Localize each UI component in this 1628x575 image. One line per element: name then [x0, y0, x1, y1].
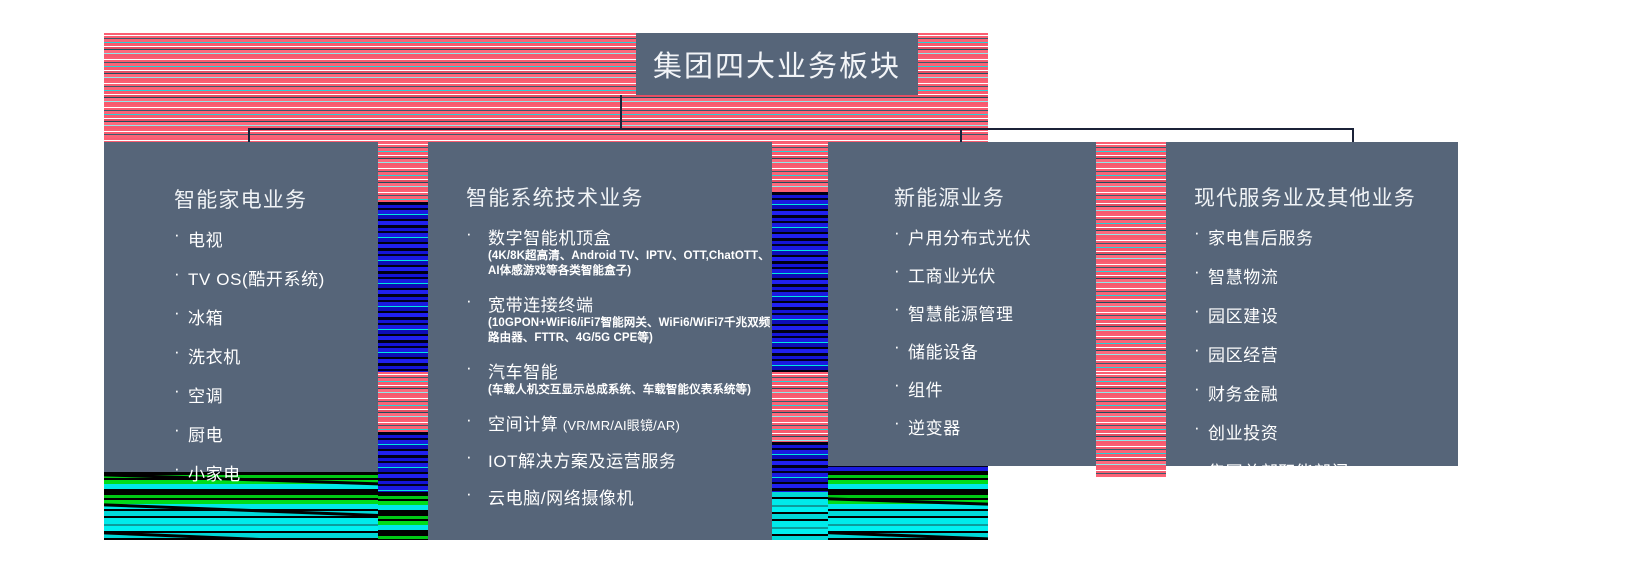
list-item[interactable]: · 电视 [174, 226, 325, 251]
panel-title: 新能源业务 [894, 182, 1005, 212]
list-item[interactable]: · 空调 [174, 382, 325, 407]
list-item[interactable]: · 储能设备 [894, 338, 1031, 363]
list-item[interactable]: · 逆变器 [894, 414, 1031, 439]
list-item-label: IOT解决方案及运营服务 [488, 447, 772, 472]
list-item[interactable]: · 组件 [894, 376, 1031, 401]
bullet-icon: · [466, 448, 472, 465]
list-item[interactable]: · 空间计算 (VR/MR/AI眼镜/AR) [466, 410, 772, 435]
list-item[interactable]: · 冰箱 [174, 304, 325, 329]
page-title: 集团四大业务板块 [653, 43, 901, 85]
list-item-label: 数字智能机顶盒 [488, 224, 772, 249]
bullet-icon: · [174, 382, 180, 399]
list-item-label: 财务金融 [1208, 380, 1349, 405]
list-item[interactable]: · 户用分布式光伏 [894, 224, 1031, 249]
list-item-label: 户用分布式光伏 [908, 224, 1031, 249]
list-item-label: 智慧物流 [1208, 263, 1349, 288]
list-item-label: 冰箱 [188, 304, 325, 329]
background-artwork-right [1096, 142, 1166, 477]
bullet-icon: · [1194, 224, 1200, 241]
list-item-label: 小家电 [188, 460, 325, 485]
list-item[interactable]: · 园区建设 [1194, 302, 1349, 327]
list-item[interactable]: · 数字智能机顶盒 (4K/8K超高清、Android TV、IPTV、OTT,… [466, 224, 772, 279]
list-item-label: 厨电 [188, 421, 325, 446]
list-item[interactable]: · 工商业光伏 [894, 262, 1031, 287]
bullet-icon: · [1194, 302, 1200, 319]
list-item[interactable]: · 智慧能源管理 [894, 300, 1031, 325]
bullet-icon: · [466, 485, 472, 502]
bullet-icon: · [174, 304, 180, 321]
connector-horizontal [248, 128, 1354, 130]
bullet-icon: · [174, 421, 180, 438]
list-item[interactable]: · 集团总部职能部门 [1194, 458, 1349, 483]
list-item[interactable]: · 汽车智能 (车载人机交互显示总成系统、车载智能仪表系统等) [466, 358, 772, 398]
list-item-label: 集团总部职能部门 [1208, 458, 1349, 483]
bullet-icon: · [894, 224, 900, 241]
list-item[interactable]: · 智慧物流 [1194, 263, 1349, 288]
list-item-label: 宽带连接终端 [488, 291, 772, 316]
list-item[interactable]: · 财务金融 [1194, 380, 1349, 405]
slide-title-chip: 集团四大业务板块 [636, 33, 918, 95]
list-item-label: 家电售后服务 [1208, 224, 1349, 249]
bullet-icon: · [466, 225, 472, 242]
bullet-icon: · [894, 376, 900, 393]
bullet-icon: · [894, 300, 900, 317]
bullet-icon: · [894, 414, 900, 431]
list-item-label: 空调 [188, 382, 325, 407]
list-item[interactable]: · 创业投资 [1194, 419, 1349, 444]
panel-item-list: · 户用分布式光伏 · 工商业光伏 · 智慧能源管理 · 储能设备 · 组件 ·… [894, 224, 1031, 452]
list-item-label: 空间计算 [488, 415, 558, 434]
bullet-icon: · [174, 265, 180, 282]
panel-item-list: · 电视 · TV OS(酷开系统) · 冰箱 · 洗衣机 · 空调 · 厨电 [174, 226, 325, 499]
list-item-label: TV OS(酷开系统) [188, 265, 325, 290]
panel-title: 智能家电业务 [174, 184, 307, 214]
panel-title: 现代服务业及其他业务 [1194, 182, 1416, 212]
bullet-icon: · [466, 359, 472, 376]
list-item-label: 逆变器 [908, 414, 1031, 439]
slide-canvas: 集团四大业务板块 智能家电业务 · 电视 · TV OS(酷开系统) · 冰箱 … [0, 0, 1628, 575]
list-item-sublabel: (10GPON+WiFi6/iFi7智能网关、WiFi6/WiFi7千兆双频路由… [488, 316, 772, 346]
business-panel-smart-home-appliance[interactable]: 智能家电业务 · 电视 · TV OS(酷开系统) · 冰箱 · 洗衣机 · 空… [104, 142, 378, 472]
business-panel-new-energy[interactable]: 新能源业务 · 户用分布式光伏 · 工商业光伏 · 智慧能源管理 · 储能设备 … [828, 142, 1096, 466]
bullet-icon: · [174, 226, 180, 243]
list-item-label: 园区建设 [1208, 302, 1349, 327]
business-panel-smart-system-technology[interactable]: 智能系统技术业务 · 数字智能机顶盒 (4K/8K超高清、Android TV、… [428, 142, 772, 540]
bullet-icon: · [466, 292, 472, 309]
list-item-label: 汽车智能 [488, 358, 772, 383]
bullet-icon: · [894, 338, 900, 355]
list-item[interactable]: · 园区经营 [1194, 341, 1349, 366]
bullet-icon: · [1194, 263, 1200, 280]
list-item-inline-note: (VR/MR/AI眼镜/AR) [563, 418, 680, 433]
bullet-icon: · [1194, 341, 1200, 358]
bullet-icon: · [466, 411, 472, 428]
bullet-icon: · [1194, 419, 1200, 436]
list-item-label: 电视 [188, 226, 325, 251]
list-item[interactable]: · 小家电 [174, 460, 325, 485]
list-item[interactable]: · 家电售后服务 [1194, 224, 1349, 249]
bullet-icon: · [894, 262, 900, 279]
bullet-icon: · [1194, 458, 1200, 475]
connector-drop-mid-left [620, 95, 622, 130]
list-item[interactable]: · 洗衣机 [174, 343, 325, 368]
background-artwork-mid-right [772, 142, 828, 540]
panel-title: 智能系统技术业务 [466, 182, 644, 212]
panel-item-list: · 数字智能机顶盒 (4K/8K超高清、Android TV、IPTV、OTT,… [466, 224, 772, 521]
list-item-label: 工商业光伏 [908, 262, 1031, 287]
list-item-label: 组件 [908, 376, 1031, 401]
list-item-label: 园区经营 [1208, 341, 1349, 366]
list-item[interactable]: · IOT解决方案及运营服务 [466, 447, 772, 472]
panel-item-list: · 家电售后服务 · 智慧物流 · 园区建设 · 园区经营 · 财务金融 · 创… [1194, 224, 1349, 497]
bullet-icon: · [1194, 380, 1200, 397]
list-item-label: 洗衣机 [188, 343, 325, 368]
business-panel-modern-service-and-others[interactable]: 现代服务业及其他业务 · 家电售后服务 · 智慧物流 · 园区建设 · 园区经营… [1166, 142, 1458, 466]
bullet-icon: · [174, 460, 180, 477]
list-item-label: 智慧能源管理 [908, 300, 1031, 325]
list-item[interactable]: · 宽带连接终端 (10GPON+WiFi6/iFi7智能网关、WiFi6/Wi… [466, 291, 772, 346]
list-item[interactable]: · 厨电 [174, 421, 325, 446]
list-item-label: 储能设备 [908, 338, 1031, 363]
list-item[interactable]: · TV OS(酷开系统) [174, 265, 325, 290]
list-item-sublabel: (车载人机交互显示总成系统、车载智能仪表系统等) [488, 383, 772, 398]
list-item[interactable]: · 云电脑/网络摄像机 [466, 484, 772, 509]
list-item-sublabel: (4K/8K超高清、Android TV、IPTV、OTT,ChatOTT、AI… [488, 249, 772, 279]
list-item-label: 云电脑/网络摄像机 [488, 484, 772, 509]
list-item-label: 创业投资 [1208, 419, 1349, 444]
bullet-icon: · [174, 343, 180, 360]
